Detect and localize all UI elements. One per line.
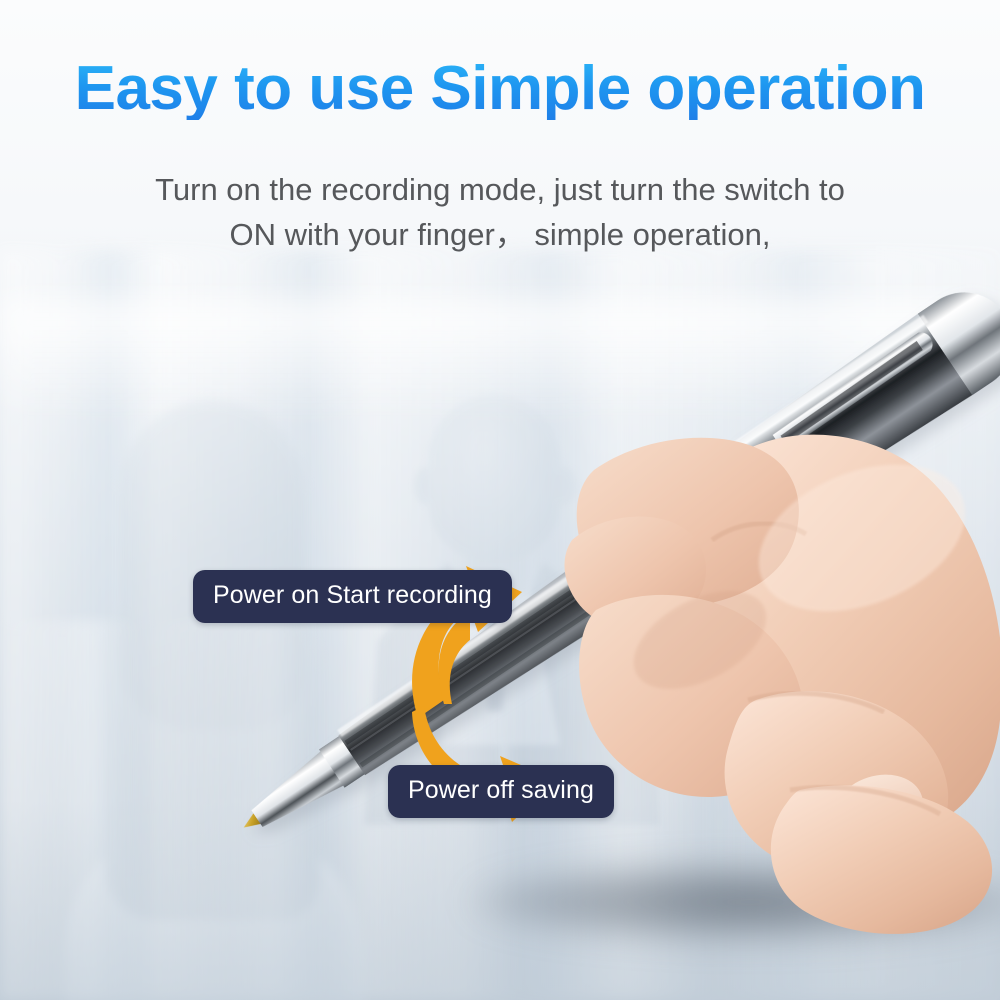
page-subtitle-line-1: Turn on the recording mode, just turn th… bbox=[155, 172, 845, 207]
page-subtitle: Turn on the recording mode, just turn th… bbox=[90, 168, 910, 258]
page-title: Easy to use Simple operation bbox=[0, 58, 1000, 120]
product-feature-banner: Easy to use Simple operation Turn on the… bbox=[0, 0, 1000, 1000]
callout-power-on: Power on Start recording bbox=[193, 570, 512, 623]
page-subtitle-line-2: ON with your finger， simple operation, bbox=[229, 217, 770, 252]
desk-shadow bbox=[470, 862, 1000, 942]
callout-power-off: Power off saving bbox=[388, 765, 614, 818]
man-head bbox=[428, 395, 560, 560]
